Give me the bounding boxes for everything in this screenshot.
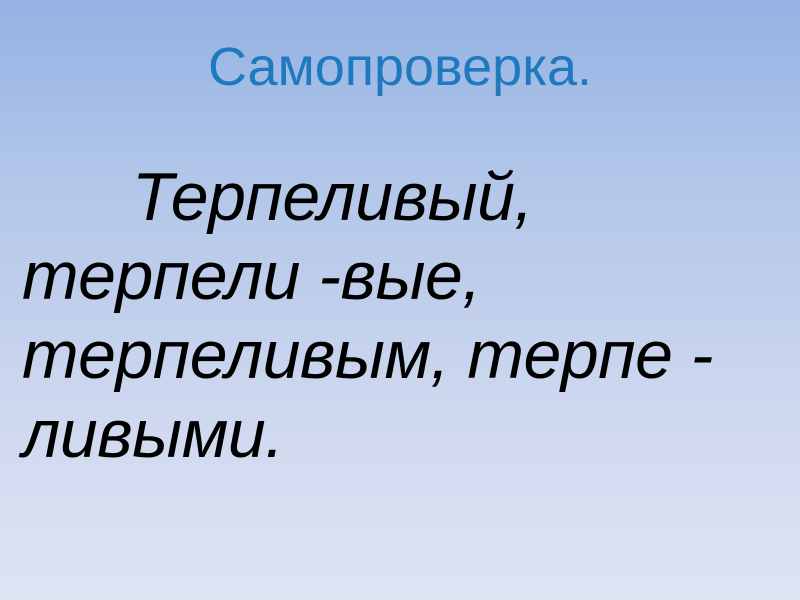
body-line-3: терпеливым, терпе - [22, 316, 782, 395]
body-line-4: ливыми. [22, 395, 782, 474]
body-line-1: Терпеливый, [22, 158, 782, 237]
page-title: Самопроверка. [0, 34, 800, 100]
body-line-2: терпели -вые, [22, 237, 782, 316]
slide-body-text: Терпеливый, терпели -вые, терпеливым, те… [22, 158, 782, 474]
presentation-slide: Самопроверка. Терпеливый, терпели -вые, … [0, 0, 800, 600]
